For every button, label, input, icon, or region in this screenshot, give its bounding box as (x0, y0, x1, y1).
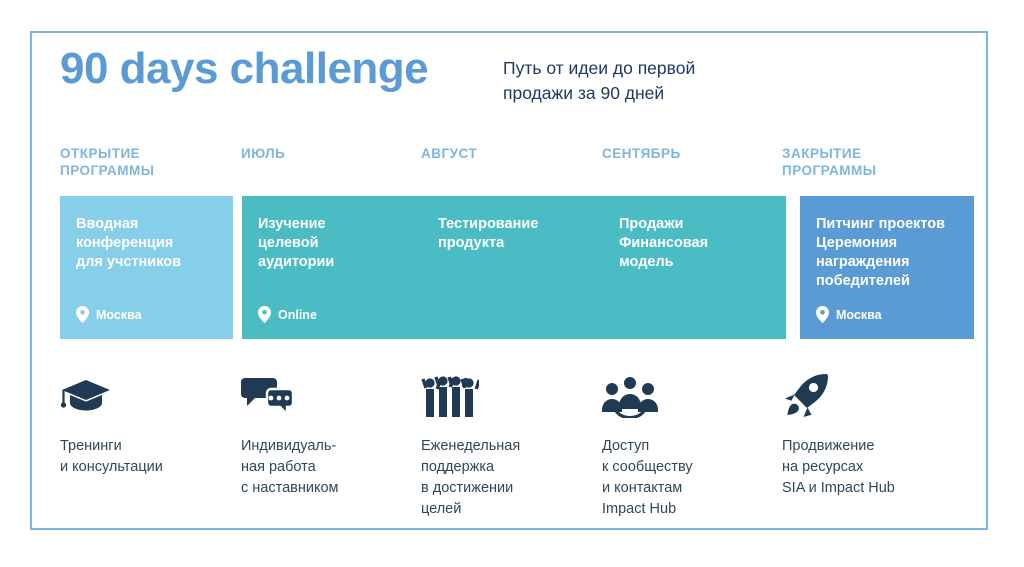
benefit-icon-wrap (421, 370, 601, 418)
benefit-icon-wrap (60, 370, 240, 418)
timeline-card-opening: Вводная конференция для учстников Москва (60, 196, 233, 339)
timeline-cards: Вводная конференция для учстников Москва… (60, 196, 974, 339)
map-pin-icon (816, 306, 829, 323)
card-title: Вводная конференция для учстников (76, 215, 217, 272)
card-title: Питчинг проектов Церемония награждения п… (816, 215, 958, 291)
card-title-august: Тестирование продукта (438, 215, 608, 253)
benefits-row: Тренинги и консультации Индивидуаль- ная… (60, 370, 974, 520)
speech-bubbles-icon (241, 376, 297, 418)
benefit-promotion: Продвижение на ресурсах SIA и Impact Hub (782, 370, 962, 499)
month-header-closing: ЗАКРЫТИЕ ПРОГРАММЫ (782, 145, 962, 179)
card-location: Москва (816, 306, 882, 323)
benefit-label: Доступ к сообществу и контактам Impact H… (602, 436, 782, 520)
benefit-trainings: Тренинги и консультации (60, 370, 240, 478)
community-group-icon (602, 376, 658, 418)
cheering-people-icon (421, 374, 479, 418)
benefit-weekly-support: Еженедельная поддержка в достижении целе… (421, 370, 601, 520)
benefit-icon-wrap (782, 370, 962, 418)
benefit-label: Тренинги и консультации (60, 436, 240, 478)
header: 90 days challenge Путь от идеи до первой… (32, 33, 986, 129)
card-title-september: Продажи Финансовая модель (619, 215, 789, 272)
card-location-label: Москва (96, 308, 142, 322)
benefit-mentoring: Индивидуаль- ная работа с наставником (241, 370, 421, 499)
benefit-icon-wrap (241, 370, 421, 418)
benefit-icon-wrap (602, 370, 782, 418)
page-subtitle: Путь от идеи до первой продажи за 90 дне… (503, 56, 695, 106)
benefit-label: Индивидуаль- ная работа с наставником (241, 436, 421, 499)
graduation-cap-icon (60, 378, 112, 418)
card-location-label: Москва (836, 308, 882, 322)
timeline-card-closing: Питчинг проектов Церемония награждения п… (800, 196, 974, 339)
month-header-july: ИЮЛЬ (241, 145, 421, 162)
rocket-icon (782, 372, 832, 418)
benefit-label: Еженедельная поддержка в достижении целе… (421, 436, 601, 520)
benefit-community-access: Доступ к сообществу и контактам Impact H… (602, 370, 782, 520)
card-location-label: Online (278, 308, 317, 322)
page-title: 90 days challenge (60, 44, 428, 94)
map-pin-icon (258, 306, 271, 323)
card-location-july: Online (258, 306, 317, 323)
timeline-month-headers: ОТКРЫТИЕ ПРОГРАММЫ ИЮЛЬ АВГУСТ СЕНТЯБРЬ … (60, 145, 974, 193)
map-pin-icon (76, 306, 89, 323)
timeline-card-band: Изучение целевой аудитории Тестирование … (242, 196, 786, 339)
month-header-september: СЕНТЯБРЬ (602, 145, 782, 162)
infographic-frame: 90 days challenge Путь от идеи до первой… (30, 31, 988, 530)
month-header-opening: ОТКРЫТИЕ ПРОГРАММЫ (60, 145, 240, 179)
benefit-label: Продвижение на ресурсах SIA и Impact Hub (782, 436, 962, 499)
card-title-july: Изучение целевой аудитории (258, 215, 428, 272)
card-location: Москва (76, 306, 142, 323)
month-header-august: АВГУСТ (421, 145, 601, 162)
